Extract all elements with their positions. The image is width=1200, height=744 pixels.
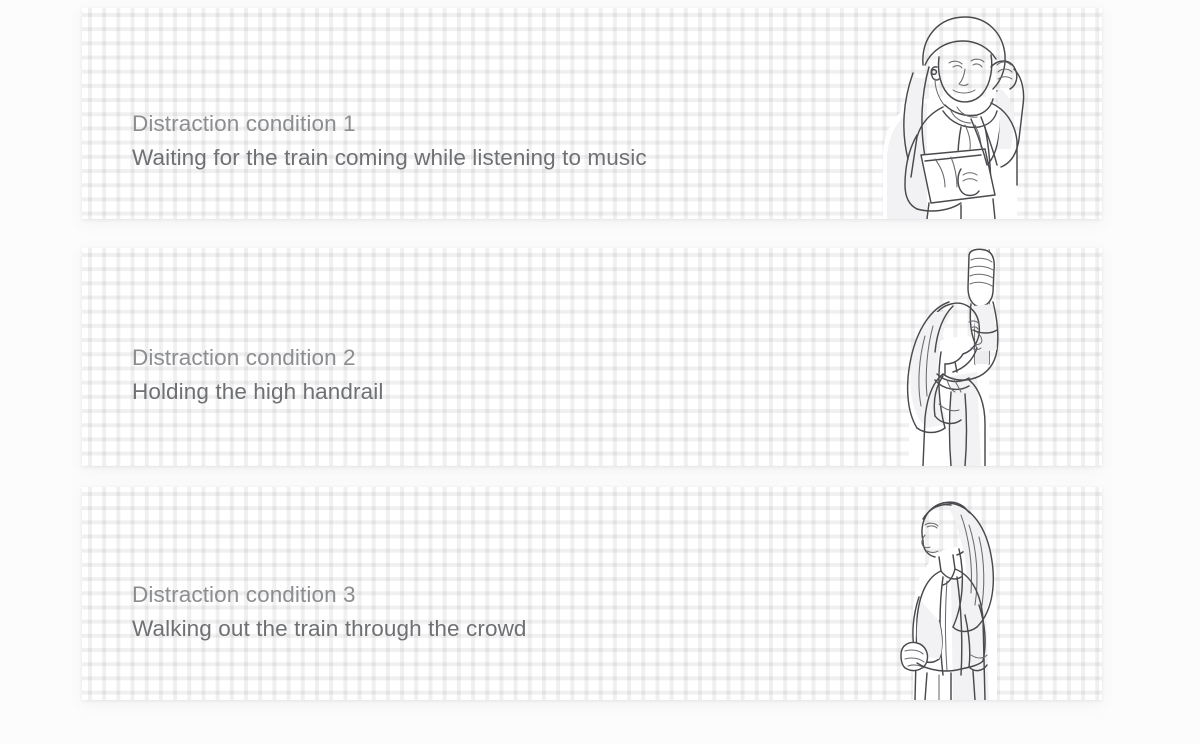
conditions-board: Distraction condition 1 Waiting for the …	[0, 0, 1200, 744]
distraction-condition-card-3: Distraction condition 3 Walking out the …	[82, 487, 1102, 700]
condition-description-3: Walking out the train through the crowd	[132, 612, 527, 646]
distraction-condition-card-1: Distraction condition 1 Waiting for the …	[82, 8, 1102, 219]
woman-walking-illustration	[865, 487, 1040, 700]
condition-title-3: Distraction condition 3	[132, 578, 527, 612]
card-text-block-2: Distraction condition 2 Holding the high…	[132, 341, 383, 409]
woman-with-earphones-illustration	[865, 8, 1040, 219]
condition-description-2: Holding the high handrail	[132, 375, 383, 409]
condition-title-2: Distraction condition 2	[132, 341, 383, 375]
card-text-block-3: Distraction condition 3 Walking out the …	[132, 578, 527, 646]
condition-title-1: Distraction condition 1	[132, 107, 647, 141]
card-text-block-1: Distraction condition 1 Waiting for the …	[132, 107, 647, 175]
distraction-condition-card-2: Distraction condition 2 Holding the high…	[82, 248, 1102, 466]
condition-description-1: Waiting for the train coming while liste…	[132, 141, 647, 175]
woman-holding-handrail-illustration	[865, 248, 1040, 466]
